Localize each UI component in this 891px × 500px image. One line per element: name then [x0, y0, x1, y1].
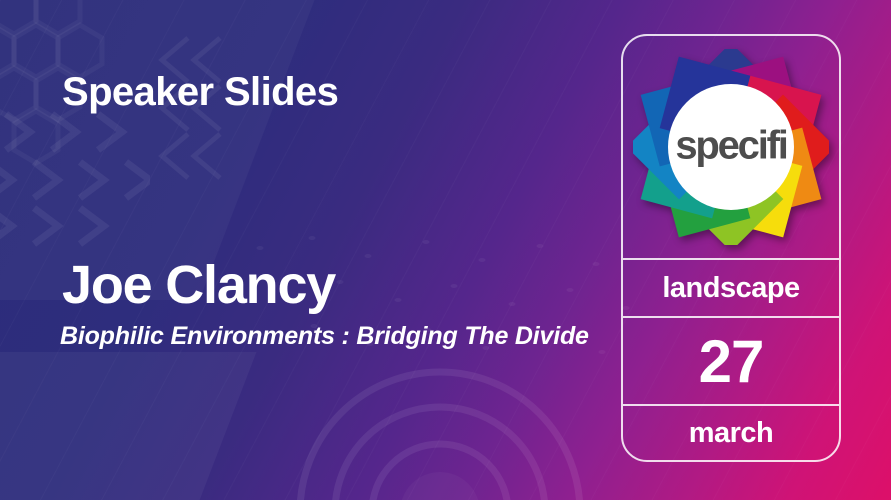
speaker-name: Joe Clancy	[62, 258, 335, 312]
event-day: 27	[623, 316, 839, 404]
specifi-logo: specifi	[633, 49, 829, 245]
specifi-wordmark: specifi	[633, 124, 829, 169]
chevron-right-pattern-icon	[0, 108, 150, 258]
event-card: specifi landscape 27 march	[621, 34, 841, 462]
page-title: Speaker Slides	[62, 72, 338, 112]
diagonal-wedge-bottom-left	[0, 352, 256, 500]
event-label: landscape	[623, 258, 839, 316]
event-month: march	[623, 404, 839, 460]
card-logo-section: specifi	[623, 36, 839, 258]
speaker-topic: Biophilic Environments : Bridging The Di…	[60, 324, 589, 349]
slide-canvas: Speaker Slides Joe Clancy Biophilic Envi…	[0, 0, 891, 500]
concentric-rings-icon	[290, 352, 620, 500]
